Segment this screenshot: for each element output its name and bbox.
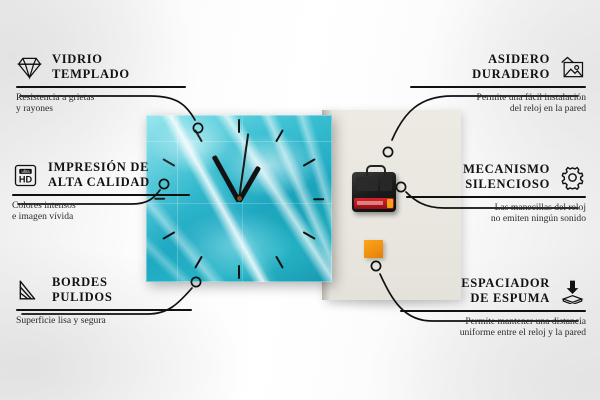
title-line-2: DE ESPUMA: [470, 291, 550, 305]
title-line-2: ALTA CALIDAD: [48, 175, 150, 189]
feature-divider: [406, 196, 586, 198]
feature-divider: [410, 86, 586, 88]
feature-description: Permite mantener una distancia uniforme …: [388, 316, 586, 339]
title-line-1: MECANISMO: [463, 162, 550, 176]
desc-line-1: Superficie lisa y segura: [16, 315, 106, 326]
title-line-1: IMPRESIÓN DE: [48, 160, 149, 174]
feature-divider: [16, 309, 192, 311]
feature-title: VIDRIO TEMPLADO: [52, 52, 130, 82]
connector-dot-espaciador: [371, 261, 380, 270]
desc-line-2: no emiten ningún sonido: [491, 213, 586, 224]
feature-divider: [16, 86, 186, 88]
title-line-1: ASIDERO: [488, 52, 550, 66]
feature-title: ASIDERO DURADERO: [472, 52, 550, 82]
feature-espaciador-de-espuma: ESPACIADOR DE ESPUMA Permite mantener un…: [388, 276, 586, 339]
infographic-canvas: VIDRIO TEMPLADO Resistencia a grietas y …: [0, 0, 600, 400]
desc-line-1: Permite mantener una distancia: [465, 316, 586, 327]
desc-line-1: Las manecillas del reloj: [495, 202, 586, 213]
feature-title: ESPACIADOR DE ESPUMA: [461, 276, 550, 306]
desc-line-2: y rayones: [16, 103, 53, 114]
ultra-hd-icon: ultra HD: [12, 163, 39, 188]
feature-vidrio-templado: VIDRIO TEMPLADO Resistencia a grietas y …: [16, 52, 212, 115]
title-line-2: SILENCIOSO: [465, 177, 550, 191]
feature-title: BORDES PULIDOS: [52, 275, 112, 305]
desc-line-2: e imagen vívida: [12, 211, 73, 222]
title-line-2: PULIDOS: [52, 290, 112, 304]
feature-description: Resistencia a grietas y rayones: [16, 92, 212, 115]
desc-line-1: Colores intensos: [12, 200, 76, 211]
feature-title: IMPRESIÓN DE ALTA CALIDAD: [48, 160, 150, 190]
title-line-2: TEMPLADO: [52, 67, 130, 81]
feature-bordes-pulidos: BORDES PULIDOS Superficie lisa y segura: [16, 275, 212, 326]
title-line-1: VIDRIO: [52, 52, 103, 66]
ultra-hd-large-text: HD: [19, 174, 33, 184]
feature-title: MECANISMO SILENCIOSO: [463, 162, 550, 192]
title-line-2: DURADERO: [472, 67, 550, 81]
title-line-1: ESPACIADOR: [461, 276, 550, 290]
feature-divider: [400, 310, 586, 312]
picture-hanger-icon: [559, 55, 586, 80]
feature-description: Superficie lisa y segura: [16, 315, 212, 327]
feature-header: ESPACIADOR DE ESPUMA: [388, 276, 586, 306]
feature-header: BORDES PULIDOS: [16, 275, 212, 305]
feature-header: VIDRIO TEMPLADO: [16, 52, 212, 82]
title-line-1: BORDES: [52, 275, 108, 289]
foam-spacer-icon: [559, 279, 586, 304]
gear-icon: [559, 165, 586, 190]
desc-line-1: Resistencia a grietas: [16, 92, 94, 103]
desc-line-2: uniforme entre el reloj y la pared: [460, 327, 586, 338]
feature-header: ASIDERO DURADERO: [388, 52, 586, 82]
connector-dot-vidrio: [193, 123, 202, 132]
feature-mecanismo-silencioso: MECANISMO SILENCIOSO Las manecillas del …: [386, 162, 586, 225]
feature-description: Colores intensos e imagen vívida: [12, 200, 212, 223]
feature-header: MECANISMO SILENCIOSO: [386, 162, 586, 192]
polished-edges-icon: [16, 278, 43, 303]
desc-line-2: del reloj en la pared: [510, 103, 586, 114]
connector-dot-asidero: [383, 147, 392, 156]
feature-divider: [12, 194, 190, 196]
feature-header: ultra HD IMPRESIÓN DE ALTA CALIDAD: [12, 160, 212, 190]
diamond-icon: [16, 55, 43, 80]
ultra-hd-small-text: ultra: [21, 168, 30, 173]
feature-asidero-duradero: ASIDERO DURADERO Permite una fácil insta…: [388, 52, 586, 115]
feature-description: Permite una fácil instalación del reloj …: [388, 92, 586, 115]
desc-line-1: Permite una fácil instalación: [477, 92, 587, 103]
feature-description: Las manecillas del reloj no emiten ningú…: [386, 202, 586, 225]
feature-impresion-alta-calidad: ultra HD IMPRESIÓN DE ALTA CALIDAD Color…: [12, 160, 212, 223]
